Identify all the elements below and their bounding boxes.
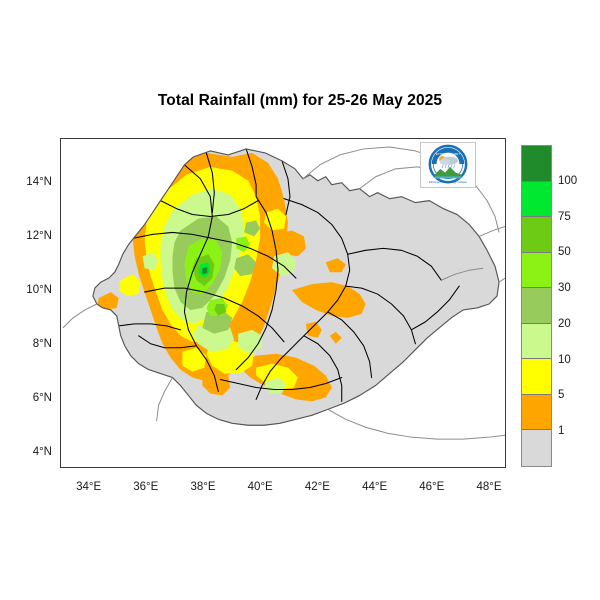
y-tick-12N [60,238,61,239]
colorbar-tick-30: 30 [558,282,571,294]
colorbar-band-10-20 [522,324,551,360]
colorbar-tick-10: 10 [558,354,571,366]
x-axis-label-34E: 34°E [59,481,119,493]
rainfall-map-figure: Total Rainfall (mm) for 25-26 May 2025 [0,0,600,600]
colorbar-band-30-50 [522,253,551,289]
y-tick-14N [60,184,61,185]
colorbar-tick-50: 50 [558,246,571,258]
y-tick-4N [60,455,61,456]
y-axis-label-8N: 8°N [12,338,52,350]
y-axis-label-6N: 6°N [12,392,52,404]
rainfall-colorbar[interactable] [521,145,552,467]
colorbar-band-lt1 [522,430,551,466]
y-tick-10N [60,292,61,293]
y-axis-label-14N: 14°N [12,176,52,188]
page-title: Total Rainfall (mm) for 25-26 May 2025 [0,92,600,110]
rainfall-choropleth [61,139,505,467]
y-axis-label-12N: 12°N [12,230,52,242]
logo-graphic: ETHIOPIAN MET Ethiopian Meteorology Inst… [421,143,475,187]
colorbar-tick-100: 100 [558,175,577,187]
y-axis-label-4N: 4°N [12,446,52,458]
x-axis-label-48E: 48°E [459,481,519,493]
colorbar-band-5-10 [522,359,551,395]
colorbar-tick-1: 1 [558,425,564,437]
svg-text:ETHIOPIAN MET: ETHIOPIAN MET [436,152,460,156]
colorbar-band-1-5 [522,395,551,431]
y-tick-8N [60,347,61,348]
ethiopian-meteorology-institute-logo: ETHIOPIAN MET Ethiopian Meteorology Inst… [420,142,476,188]
y-tick-6N [60,401,61,402]
x-axis-label-36E: 36°E [116,481,176,493]
colorbar-band-20-30 [522,288,551,324]
x-axis-label-42E: 42°E [287,481,347,493]
colorbar-band-50-75 [522,217,551,253]
colorbar-tick-75: 75 [558,211,571,223]
x-axis-label-44E: 44°E [345,481,405,493]
logo-caption: Ethiopian Meteorology Institute [429,180,467,184]
x-axis-label-38E: 38°E [173,481,233,493]
colorbar-band-75-100 [522,182,551,218]
x-axis-label-40E: 40°E [230,481,290,493]
y-axis-label-10N: 10°N [12,284,52,296]
colorbar-tick-5: 5 [558,389,564,401]
colorbar-band-gt100 [522,146,551,182]
x-axis-label-46E: 46°E [402,481,462,493]
colorbar-tick-20: 20 [558,318,571,330]
